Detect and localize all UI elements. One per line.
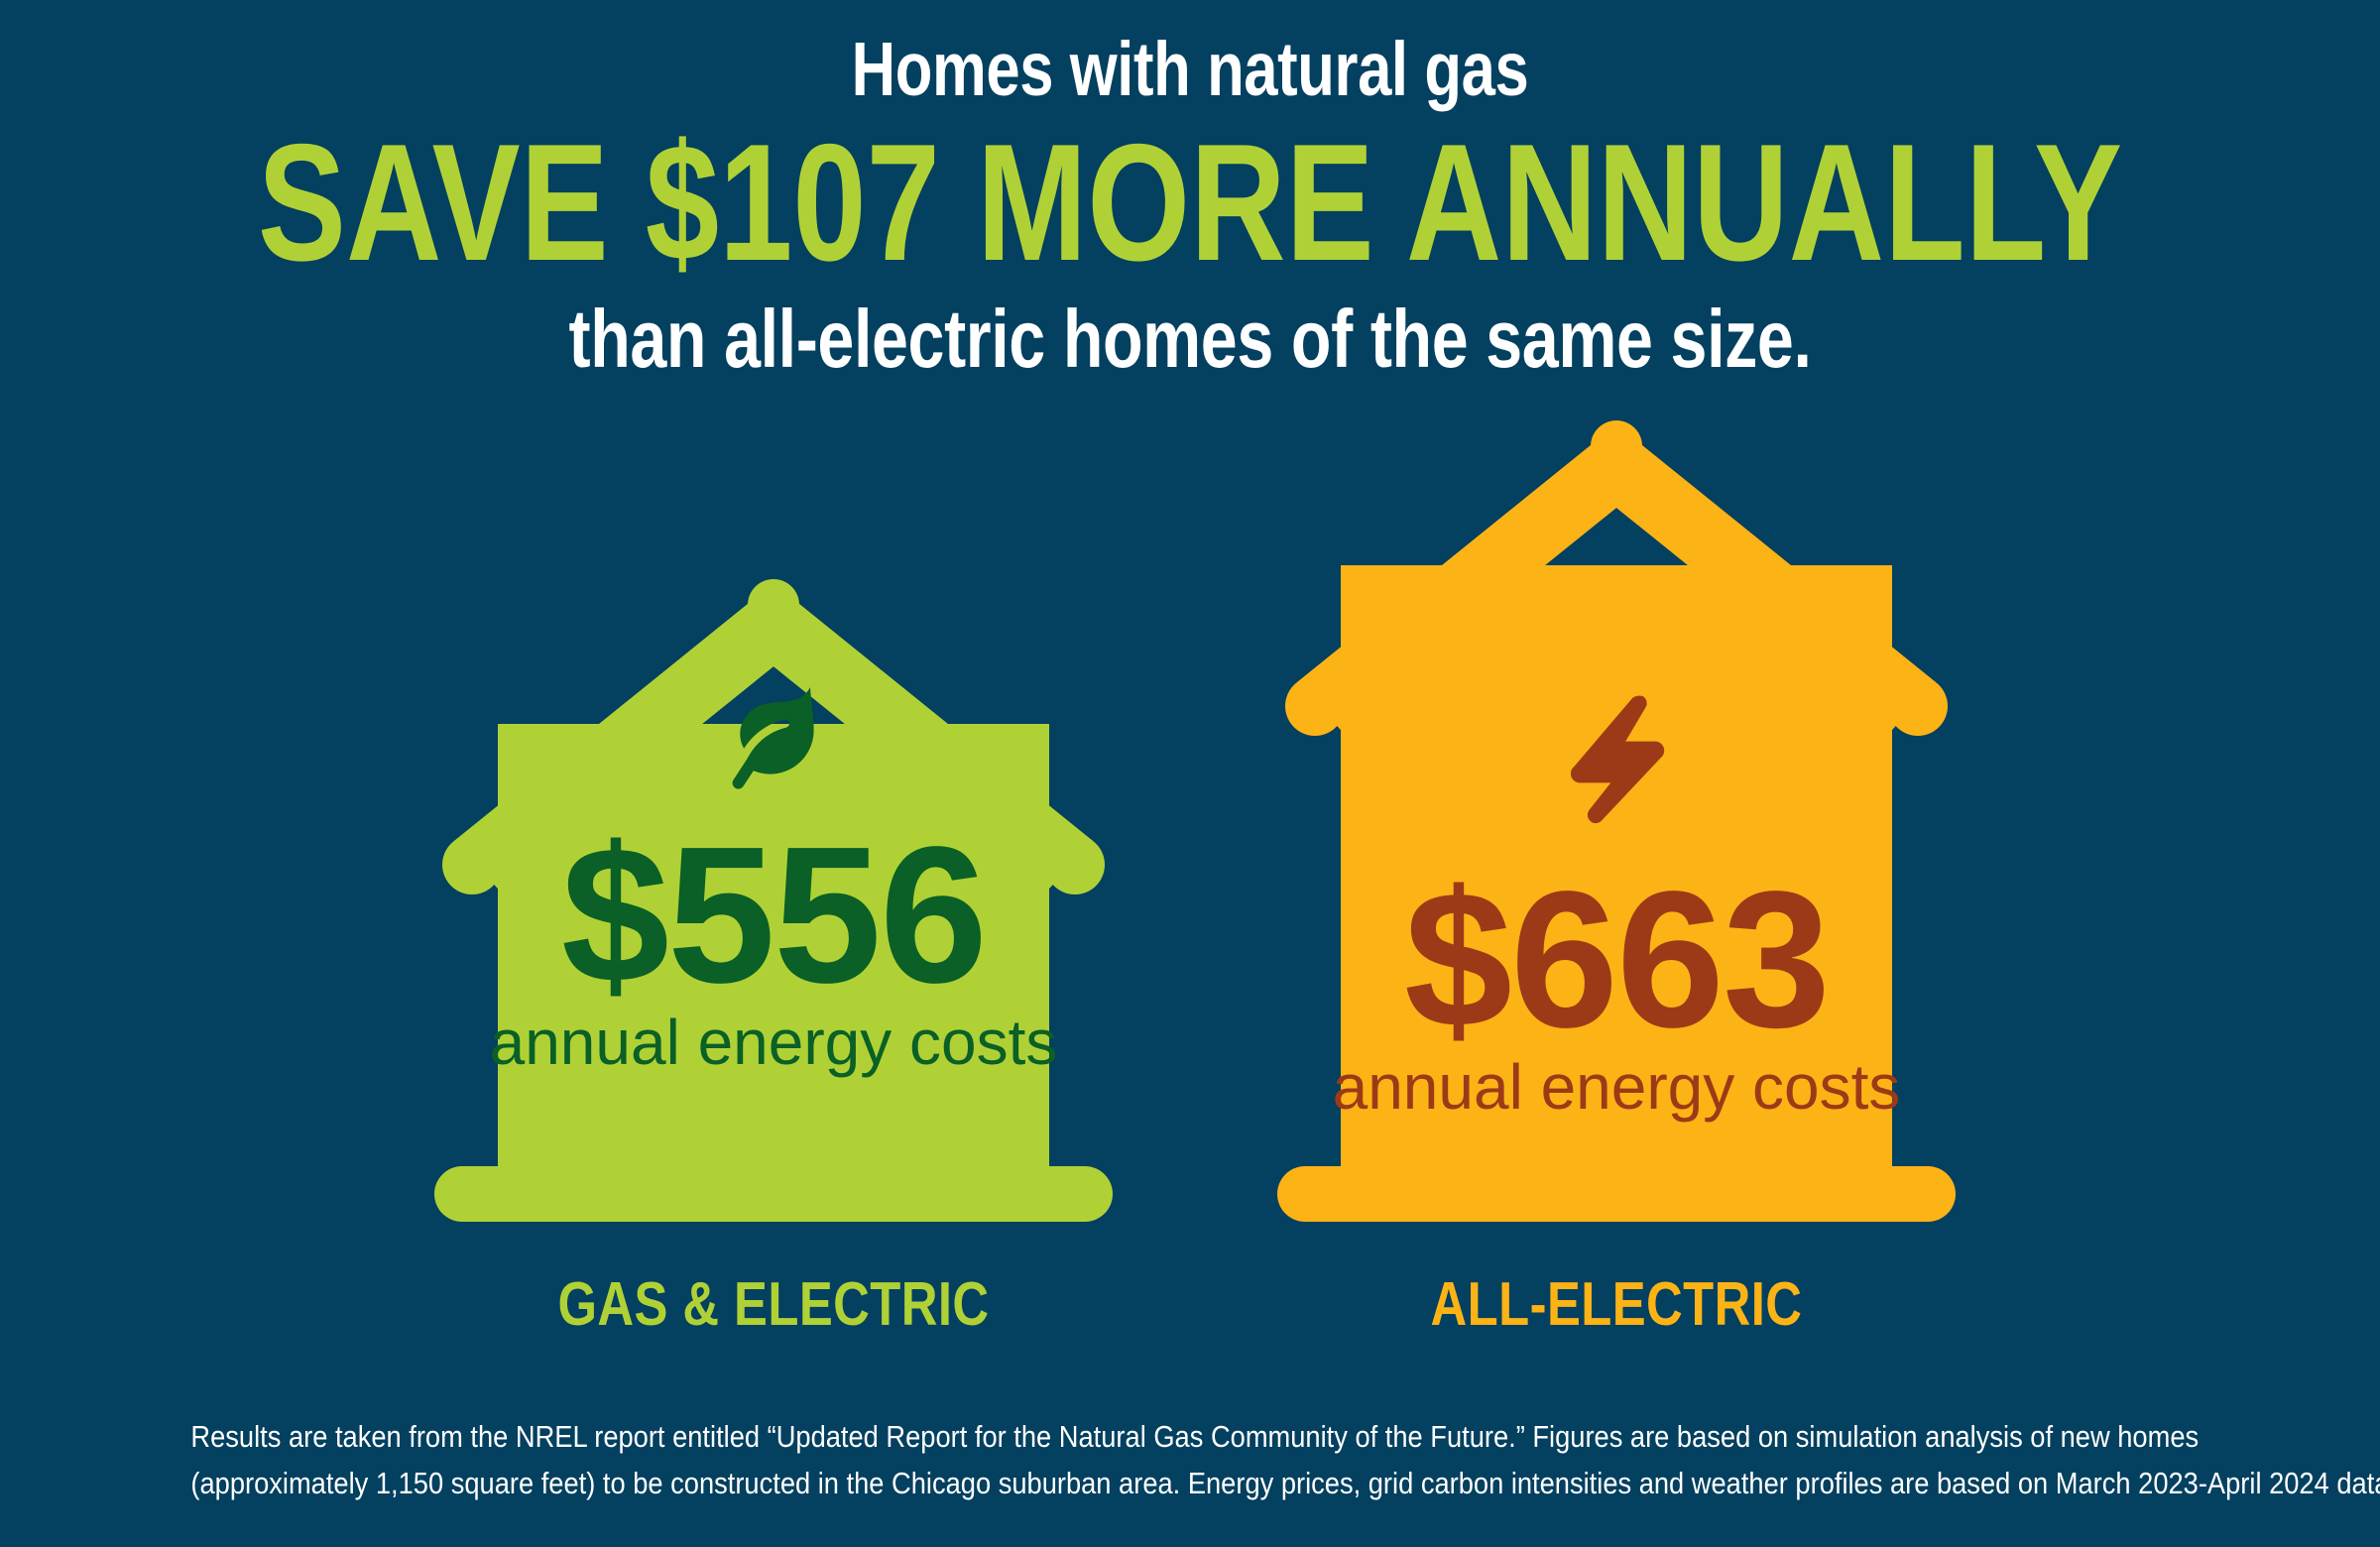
house-comparison: $556 annual energy costs: [0, 416, 2380, 1289]
footer-line-1: Results are taken from the NREL report e…: [190, 1413, 2189, 1460]
headline-eyebrow: Homes with natural gas: [238, 30, 2142, 111]
headline-main: SAVE $107 MORE ANNUALLY: [244, 119, 2136, 286]
leaf-icon-slot: [426, 674, 1121, 806]
caption-all-electric: ALL-ELECTRIC: [1332, 1269, 1901, 1340]
footer-line-2: (approximately 1,150 square feet) to be …: [190, 1460, 2189, 1506]
lightning-bolt-icon: [1558, 690, 1675, 829]
headline-block: Homes with natural gas SAVE $107 MORE AN…: [0, 0, 2380, 382]
leaf-icon: [710, 674, 837, 801]
headline-sub: than all-electric homes of the same size…: [238, 296, 2142, 382]
footer-note: Results are taken from the NREL report e…: [0, 1413, 2380, 1506]
lightning-bolt-icon-slot: [1269, 690, 1963, 834]
house-gas-electric: $556 annual energy costs: [426, 575, 1121, 1249]
house-all-electric: $663 annual energy costs: [1269, 416, 1963, 1249]
caption-gas-electric: GAS & ELECTRIC: [489, 1269, 1058, 1340]
